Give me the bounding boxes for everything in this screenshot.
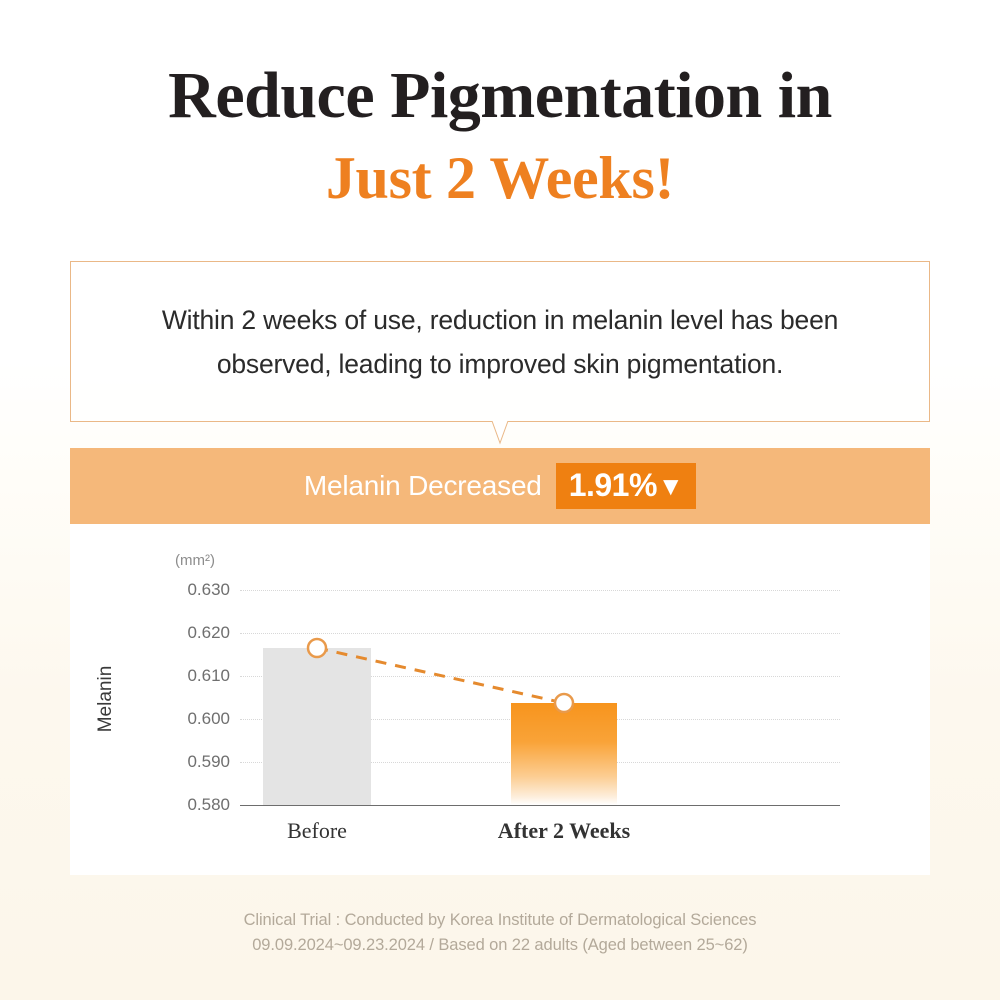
y-tick-label: 0.610 [166, 666, 230, 686]
decrease-badge: 1.91%▼ [556, 463, 696, 509]
description-callout: Within 2 weeks of use, reduction in mela… [70, 261, 930, 422]
trend-marker-before [308, 639, 326, 657]
description-text: Within 2 weeks of use, reduction in mela… [105, 298, 895, 386]
trend-marker-after [555, 694, 573, 712]
footer-note: Clinical Trial : Conducted by Korea Inst… [0, 908, 1000, 958]
title-line-2: Just 2 Weeks! [0, 140, 1000, 216]
y-tick-label: 0.590 [166, 752, 230, 772]
footer-line-2: 09.09.2024~09.23.2024 / Based on 22 adul… [0, 933, 1000, 958]
footer-line-1: Clinical Trial : Conducted by Korea Inst… [0, 908, 1000, 933]
x-label-before: Before [287, 818, 347, 844]
badge-value: 1.91% [569, 469, 657, 501]
plot-area: Before After 2 Weeks [240, 524, 840, 875]
melanin-decrease-banner: Melanin Decreased 1.91%▼ [70, 448, 930, 524]
y-tick-label: 0.580 [166, 795, 230, 815]
chart-card: (mm²) Melanin 0.630 0.620 0.610 0.600 0.… [70, 524, 930, 875]
banner-label: Melanin Decreased [304, 470, 542, 502]
page-title: Reduce Pigmentation in Just 2 Weeks! [0, 54, 1000, 216]
callout-notch-icon [470, 421, 530, 447]
y-tick-label: 0.630 [166, 580, 230, 600]
down-triangle-icon: ▼ [658, 473, 683, 499]
x-label-after: After 2 Weeks [498, 818, 630, 844]
y-tick-label: 0.600 [166, 709, 230, 729]
y-tick-label: 0.620 [166, 623, 230, 643]
y-axis-label: Melanin [95, 666, 117, 733]
title-line-1: Reduce Pigmentation in [0, 54, 1000, 138]
y-axis-ticks: 0.630 0.620 0.610 0.600 0.590 0.580 [166, 524, 230, 875]
melanin-bar-chart: (mm²) Melanin 0.630 0.620 0.610 0.600 0.… [70, 524, 930, 875]
